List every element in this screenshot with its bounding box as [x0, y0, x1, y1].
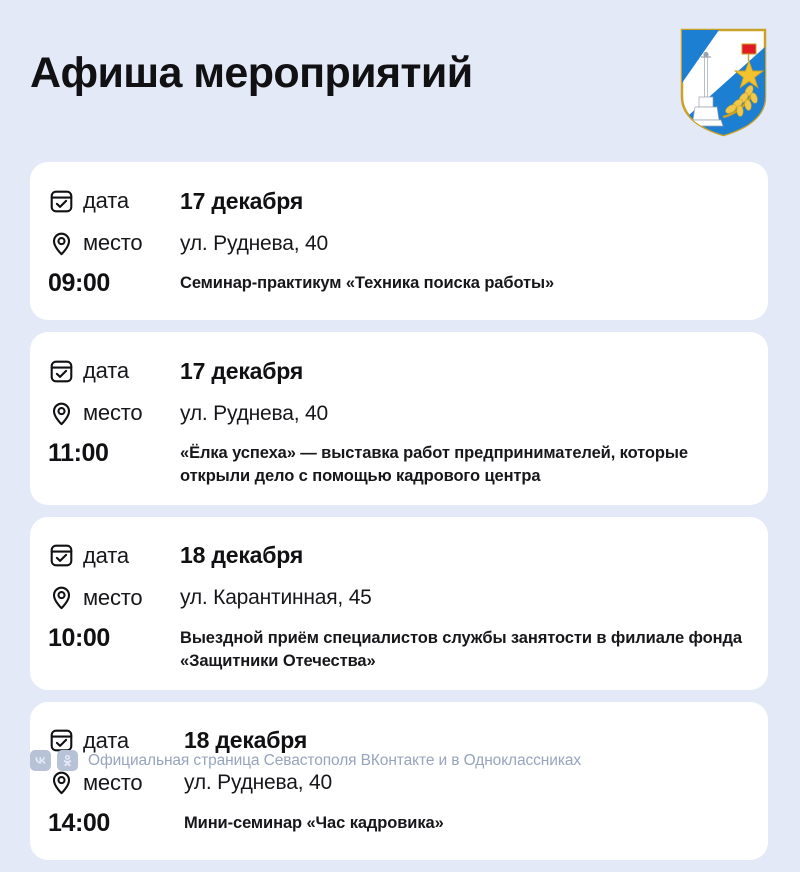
date-label-group: дата	[30, 188, 180, 214]
event-date-value: 17 декабря	[180, 190, 768, 213]
header: Афиша мероприятий	[0, 0, 800, 150]
poster-root: Афиша мероприятий	[0, 0, 800, 800]
event-time-row: 14:00 Мини-семинар «Час кадровика»	[30, 804, 768, 844]
event-time-row: 09:00 Семинар-практикум «Техника поиска …	[30, 264, 768, 304]
event-place-value: ул. Карантинная, 45	[180, 587, 768, 608]
event-description: Семинар-практикум «Техника поиска работы…	[180, 268, 768, 295]
date-label-group: дата	[30, 543, 180, 569]
location-pin-icon	[48, 770, 74, 796]
event-time-row: 10:00 Выездной приём специалистов службы…	[30, 619, 768, 674]
footer-text: Официальная страница Севастополя ВКонтак…	[88, 753, 581, 769]
calendar-check-icon	[48, 358, 74, 384]
odnoklassniki-icon[interactable]	[57, 750, 78, 771]
event-time-value: 14:00	[30, 808, 178, 839]
event-description: «Ёлка успеха» — выставка работ предприни…	[180, 438, 768, 489]
footer: Официальная страница Севастополя ВКонтак…	[30, 750, 581, 771]
event-description: Мини-семинар «Час кадровика»	[178, 808, 768, 835]
event-place-row: место ул. Руднева, 40	[30, 222, 768, 264]
location-pin-icon	[48, 230, 74, 256]
calendar-check-icon	[48, 543, 74, 569]
page-title: Афиша мероприятий	[30, 52, 473, 95]
place-label: место	[83, 402, 142, 424]
place-label: место	[83, 772, 142, 794]
event-card[interactable]: дата 17 декабря место ул. Руднева, 40	[30, 162, 768, 320]
event-date-value: 18 декабря	[178, 729, 768, 752]
date-label: дата	[83, 360, 129, 382]
calendar-check-icon	[48, 188, 74, 214]
place-label: место	[83, 232, 142, 254]
event-place-value: ул. Руднева, 40	[178, 772, 768, 793]
sevastopol-coat-of-arms-icon	[679, 27, 768, 137]
event-card[interactable]: дата 18 декабря место ул. Руднева, 40	[30, 702, 768, 860]
event-time-row: 11:00 «Ёлка успеха» — выставка работ пре…	[30, 434, 768, 489]
event-card[interactable]: дата 18 декабря место ул. Карантинная, 4…	[30, 517, 768, 690]
vk-icon[interactable]	[30, 750, 51, 771]
event-date-row: дата 17 декабря	[30, 180, 768, 222]
event-description: Выездной приём специалистов службы занят…	[180, 623, 768, 674]
location-pin-icon	[48, 585, 74, 611]
event-card[interactable]: дата 17 декабря место ул. Руднева, 40	[30, 332, 768, 505]
event-place-row: место ул. Карантинная, 45	[30, 577, 768, 619]
place-label-group: место	[30, 230, 180, 256]
event-date-value: 18 декабря	[180, 544, 768, 567]
event-time-value: 10:00	[30, 623, 180, 654]
location-pin-icon	[48, 400, 74, 426]
event-place-value: ул. Руднева, 40	[180, 403, 768, 424]
event-time-value: 11:00	[30, 438, 180, 469]
event-place-value: ул. Руднева, 40	[180, 233, 768, 254]
place-label-group: место	[30, 400, 180, 426]
event-date-row: дата 17 декабря	[30, 350, 768, 392]
event-place-row: место ул. Руднева, 40	[30, 392, 768, 434]
date-label: дата	[83, 545, 129, 567]
place-label: место	[83, 587, 142, 609]
date-label: дата	[83, 730, 129, 752]
date-label-group: дата	[30, 358, 180, 384]
event-time-value: 09:00	[30, 268, 180, 299]
place-label-group: место	[30, 770, 178, 796]
date-label: дата	[83, 190, 129, 212]
event-date-value: 17 декабря	[180, 360, 768, 383]
place-label-group: место	[30, 585, 180, 611]
event-date-row: дата 18 декабря	[30, 535, 768, 577]
